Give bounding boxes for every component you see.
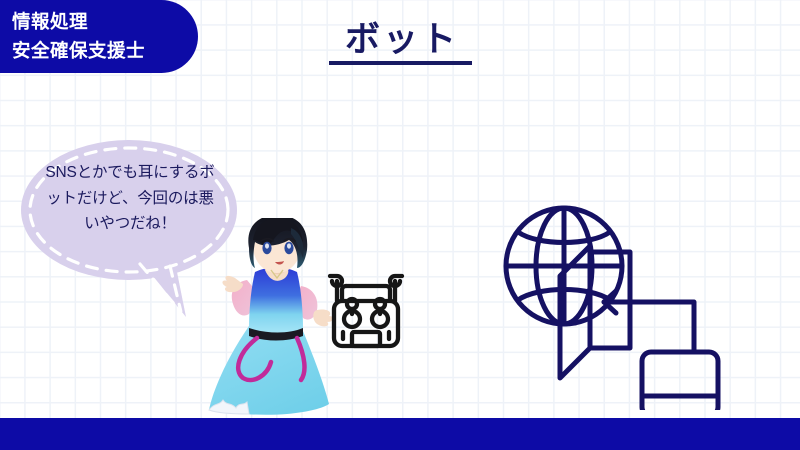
certification-badge: 情報処理 安全確保支援士 <box>0 0 198 73</box>
title-underline <box>329 61 472 65</box>
network-intrusion-diagram <box>498 200 723 410</box>
slide-canvas: 情報処理 安全確保支援士 ボット SNSとかでも耳にするボットだけど、今回のは悪… <box>0 0 800 450</box>
page-title: ボット <box>327 18 477 62</box>
left-arrow-icon <box>604 291 644 313</box>
page-title-text: ボット <box>327 18 477 62</box>
desktop-monitor-icon <box>642 352 718 410</box>
badge-line-1: 情報処理 <box>12 7 198 36</box>
robot-head-icon <box>320 268 412 356</box>
badge-line-2: 安全確保支援士 <box>12 36 198 65</box>
bottom-accent-bar <box>0 418 800 450</box>
speech-bubble-text: SNSとかでも耳にするボットだけど、今回のは悪いやつだね！ <box>44 160 216 237</box>
connector-line <box>644 302 694 352</box>
globe-icon <box>506 208 622 324</box>
